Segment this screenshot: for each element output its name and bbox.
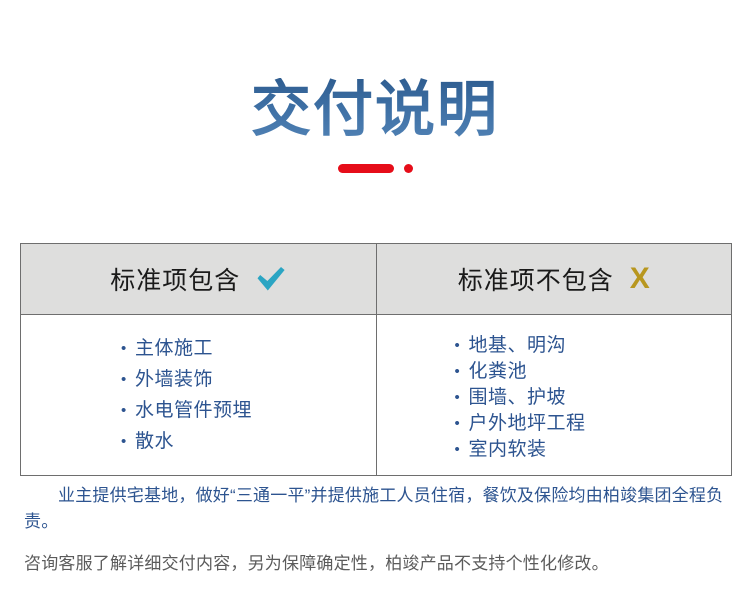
check-icon <box>256 266 286 292</box>
body-cell-included: 主体施工 外墙装饰 水电管件预埋 散水 <box>21 315 377 476</box>
note-primary: 业主提供宅基地，做好“三通一平”并提供施工人员住宿，餐饮及保险均由柏竣集团全程负… <box>24 483 730 535</box>
list-item: 主体施工 <box>121 333 376 364</box>
table-header-row: 标准项包含 标准项不包含 X <box>21 244 732 315</box>
list-item: 化粪池 <box>455 359 732 385</box>
body-cell-excluded: 地基、明沟 化粪池 围墙、护坡 户外地坪工程 室内软装 <box>376 315 732 476</box>
included-item-list: 主体施工 外墙装饰 水电管件预埋 散水 <box>21 315 376 457</box>
note-secondary: 咨询客服了解详细交付内容，另为保障确定性，柏竣产品不支持个性化修改。 <box>24 551 730 577</box>
x-icon: X <box>630 264 650 294</box>
divider-decoration <box>0 161 750 175</box>
delivery-spec-table: 标准项包含 标准项不包含 X 主体施工 外墙装 <box>20 243 732 476</box>
title-block: 交付说明 <box>0 0 750 141</box>
red-bar-icon <box>338 164 394 173</box>
header-cell-included: 标准项包含 <box>21 244 377 315</box>
list-item: 地基、明沟 <box>455 333 732 359</box>
table-body-row: 主体施工 外墙装饰 水电管件预埋 散水 地基、明沟 化粪池 围墙、护坡 户外地坪… <box>21 315 732 476</box>
list-item: 外墙装饰 <box>121 364 376 395</box>
list-item: 室内软装 <box>455 437 732 463</box>
header-label-included: 标准项包含 <box>110 261 240 297</box>
list-item: 水电管件预埋 <box>121 395 376 426</box>
page-title: 交付说明 <box>251 78 499 141</box>
list-item: 围墙、护坡 <box>455 385 732 411</box>
header-cell-excluded: 标准项不包含 X <box>376 244 732 315</box>
excluded-item-list: 地基、明沟 化粪池 围墙、护坡 户外地坪工程 室内软装 <box>377 315 732 463</box>
header-label-excluded: 标准项不包含 <box>458 261 614 297</box>
list-item: 户外地坪工程 <box>455 411 732 437</box>
list-item: 散水 <box>121 426 376 457</box>
footer-notes: 业主提供宅基地，做好“三通一平”并提供施工人员住宿，餐饮及保险均由柏竣集团全程负… <box>24 483 730 577</box>
red-dot-icon <box>404 164 413 173</box>
